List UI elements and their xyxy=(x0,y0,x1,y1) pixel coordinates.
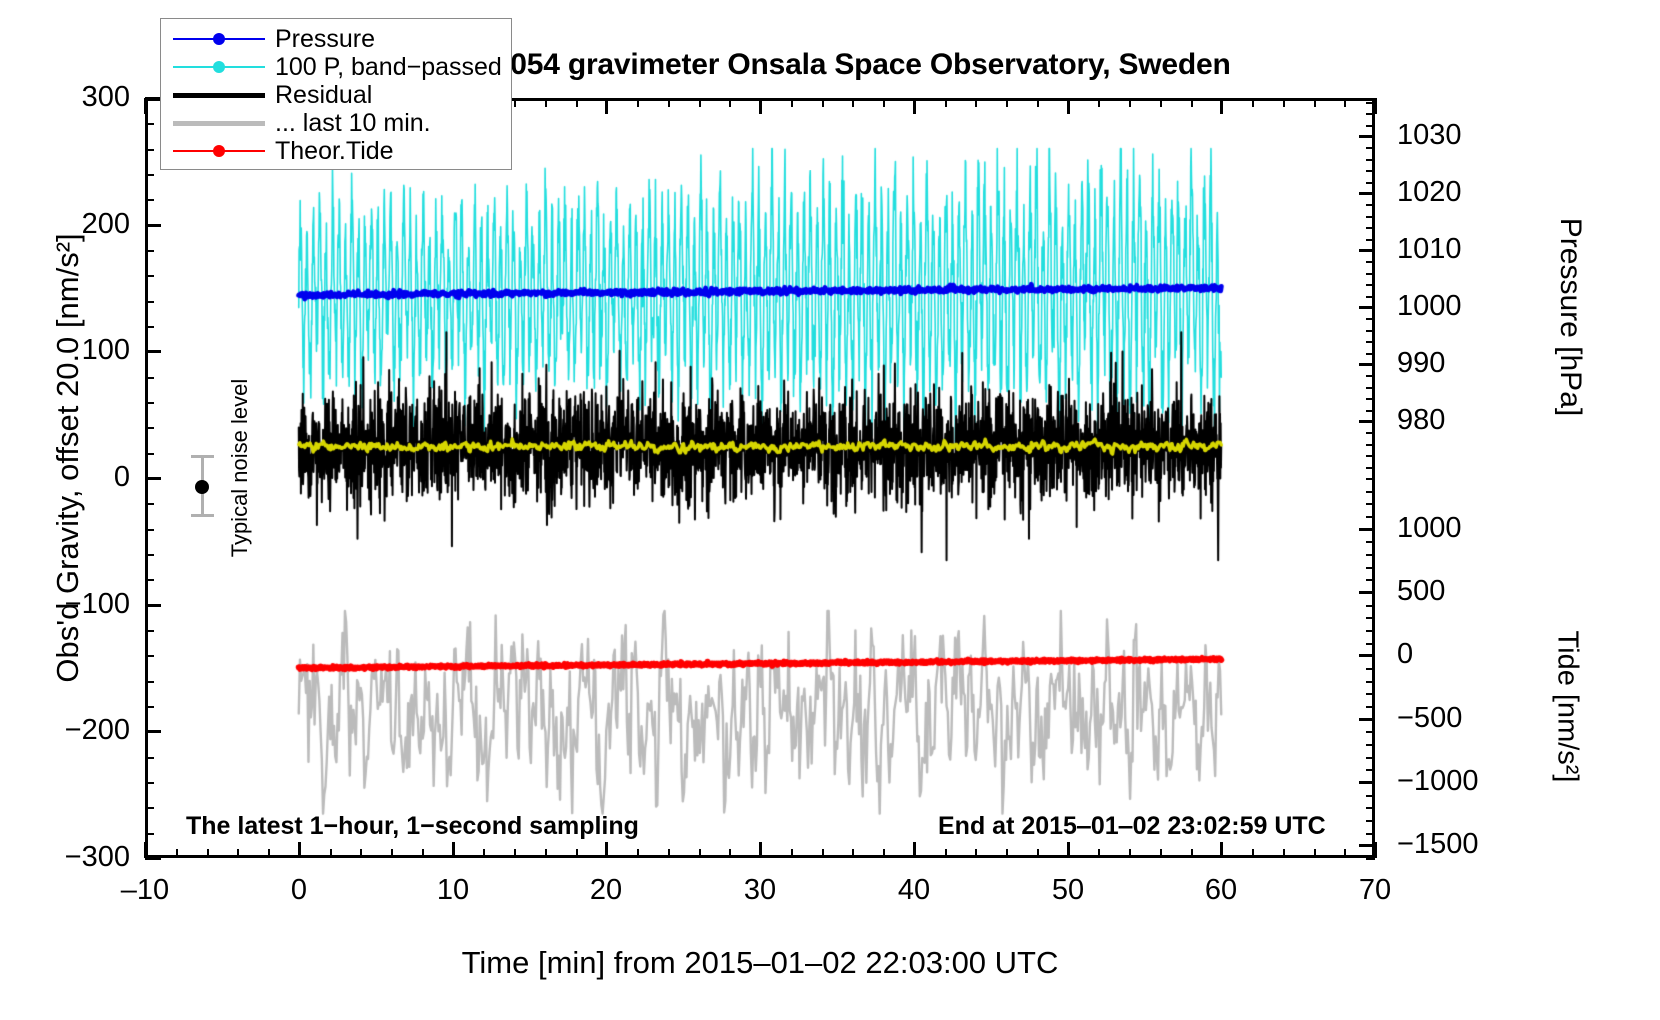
y-tick-minor-left xyxy=(145,326,154,328)
x-tick-minor xyxy=(822,849,824,858)
footnote-end-time: End at 2015‒01‒02 23:02:59 UTC xyxy=(938,812,1326,841)
y-tick-minor-right-pressure xyxy=(1366,170,1375,172)
x-tick-minor xyxy=(699,849,701,858)
y-tick-minor-left xyxy=(145,453,154,455)
y-tick-minor-right-tide xyxy=(1366,820,1375,822)
y-tick-minor-right-pressure xyxy=(1366,330,1375,332)
y-tick-minor-right-tide xyxy=(1366,630,1375,632)
x-tick-minor xyxy=(1314,849,1316,858)
x-tick-label: 0 xyxy=(239,876,359,905)
x-tick-minor xyxy=(1037,849,1039,858)
y-tick-minor-right-tide xyxy=(1366,668,1375,670)
y-tick-minor-right-tide xyxy=(1366,491,1375,493)
y-tick-major-left xyxy=(145,97,161,100)
legend-swatch-icon xyxy=(173,141,265,161)
x-tick-label: 30 xyxy=(700,876,820,905)
y-tick-minor-right-tide xyxy=(1366,693,1375,695)
x-tick-major-top xyxy=(144,98,147,114)
y-tick-minor-left xyxy=(145,250,154,252)
x-tick-minor xyxy=(330,849,332,858)
legend-label: Residual xyxy=(275,83,372,108)
y-tick-major-left xyxy=(145,604,161,607)
y-tick-minor-left xyxy=(145,630,154,632)
y-tick-label-right-tide: −1000 xyxy=(1397,767,1542,796)
y-tick-minor-left xyxy=(145,503,154,505)
y-tick-label-right-pressure: 1010 xyxy=(1397,235,1527,264)
x-tick-major xyxy=(1067,842,1070,858)
legend-swatch-icon xyxy=(173,29,265,49)
y-tick-major-left xyxy=(145,477,161,480)
x-tick-minor-top xyxy=(729,98,731,107)
y-tick-minor-right-tide xyxy=(1366,744,1375,746)
y-tick-minor-right-tide xyxy=(1366,643,1375,645)
y-tick-major-right-tide xyxy=(1359,528,1375,531)
x-axis-label: Time [min] from 2015‒01‒02 22:03:00 UTC xyxy=(145,945,1375,981)
x-tick-major xyxy=(759,842,762,858)
y-tick-minor-right-pressure xyxy=(1366,159,1375,161)
x-tick-minor xyxy=(545,849,547,858)
x-tick-major xyxy=(452,842,455,858)
x-tick-minor xyxy=(945,849,947,858)
y-tick-major-right-pressure xyxy=(1359,306,1375,309)
x-tick-minor xyxy=(1160,849,1162,858)
chart-page: SCG_054 gravimeter Onsala Space Observat… xyxy=(0,0,1660,1020)
y-tick-minor-right-pressure xyxy=(1366,296,1375,298)
y-tick-minor-right-pressure xyxy=(1366,341,1375,343)
y-tick-minor-left xyxy=(145,149,154,151)
y-tick-minor-left xyxy=(145,782,154,784)
x-tick-minor-top xyxy=(1314,98,1316,107)
y-tick-minor-left xyxy=(145,833,154,835)
x-tick-minor xyxy=(1098,849,1100,858)
y-tick-major-left xyxy=(145,730,161,733)
y-tick-minor-left xyxy=(145,655,154,657)
x-tick-minor-top xyxy=(576,98,578,107)
y-tick-minor-right-pressure xyxy=(1366,455,1375,457)
y-tick-minor-right-tide xyxy=(1366,757,1375,759)
y-tick-minor-right-pressure xyxy=(1366,318,1375,320)
x-tick-minor xyxy=(668,849,670,858)
x-tick-minor-top xyxy=(1160,98,1162,107)
y-tick-minor-left xyxy=(145,681,154,683)
y-tick-minor-right-tide xyxy=(1366,567,1375,569)
x-tick-minor-top xyxy=(668,98,670,107)
x-tick-minor-top xyxy=(975,98,977,107)
y-tick-minor-right-tide xyxy=(1366,807,1375,809)
y-axis-label-left: Obs'd Gravity, offset 20.0 [nm/s²] xyxy=(50,68,86,848)
x-tick-minor xyxy=(1344,849,1346,858)
x-tick-minor xyxy=(422,849,424,858)
y-tick-minor-right-tide xyxy=(1366,541,1375,543)
x-tick-minor xyxy=(360,849,362,858)
x-tick-major-top xyxy=(759,98,762,114)
y-axis-label-right-tide: Tide [nm/s²] xyxy=(1551,532,1584,882)
x-tick-minor xyxy=(1191,849,1193,858)
x-tick-minor xyxy=(729,849,731,858)
x-tick-minor xyxy=(237,849,239,858)
legend-line xyxy=(173,121,265,126)
x-tick-major-top xyxy=(1374,98,1377,114)
y-tick-minor-right-tide xyxy=(1366,579,1375,581)
x-tick-minor xyxy=(1129,849,1131,858)
y-tick-major-right-pressure xyxy=(1359,249,1375,252)
legend-item[interactable]: Pressure xyxy=(161,25,511,53)
y-tick-minor-left xyxy=(145,529,154,531)
x-tick-label: 40 xyxy=(854,876,974,905)
x-tick-minor-top xyxy=(1098,98,1100,107)
y-tick-minor-left xyxy=(145,579,154,581)
legend-item[interactable]: Theor.Tide xyxy=(161,137,511,165)
x-tick-major xyxy=(144,842,147,858)
legend-item[interactable]: 100 P, band−passed xyxy=(161,53,511,81)
legend-swatch-icon xyxy=(173,85,265,105)
errorbar-cap-bottom xyxy=(191,514,214,517)
y-tick-minor-left xyxy=(145,174,154,176)
legend-line xyxy=(173,93,265,98)
y-tick-label-right-pressure: 1000 xyxy=(1397,292,1527,321)
x-tick-minor xyxy=(514,849,516,858)
y-tick-minor-right-pressure xyxy=(1366,444,1375,446)
y-tick-major-right-pressure xyxy=(1359,192,1375,195)
x-tick-minor-top xyxy=(883,98,885,107)
y-tick-minor-right-pressure xyxy=(1366,125,1375,127)
x-tick-major-top xyxy=(605,98,608,114)
plot-series-canvas xyxy=(145,98,1375,858)
x-tick-minor xyxy=(791,849,793,858)
y-tick-minor-right-tide xyxy=(1366,769,1375,771)
y-tick-minor-right-tide xyxy=(1366,833,1375,835)
x-tick-minor-top xyxy=(791,98,793,107)
x-tick-minor-top xyxy=(514,98,516,107)
x-tick-major-top xyxy=(1220,98,1223,114)
y-tick-label-right-tide: 500 xyxy=(1397,577,1542,606)
x-tick-minor-top xyxy=(1129,98,1131,107)
x-tick-minor xyxy=(975,849,977,858)
y-tick-minor-right-tide xyxy=(1366,503,1375,505)
y-tick-minor-right-pressure xyxy=(1366,204,1375,206)
y-tick-minor-right-pressure xyxy=(1366,147,1375,149)
x-tick-minor-top xyxy=(545,98,547,107)
y-tick-major-right-tide xyxy=(1359,844,1375,847)
plot-canvas-holder xyxy=(145,98,1375,858)
y-tick-minor-left xyxy=(145,123,154,125)
y-tick-major-right-tide xyxy=(1359,654,1375,657)
legend-label: ... last 10 min. xyxy=(275,111,431,136)
y-tick-minor-right-tide xyxy=(1366,516,1375,518)
legend-swatch-icon xyxy=(173,57,265,77)
x-tick-major-top xyxy=(913,98,916,114)
x-tick-major xyxy=(605,842,608,858)
y-tick-minor-left xyxy=(145,757,154,759)
y-tick-major-right-tide xyxy=(1359,591,1375,594)
y-tick-minor-right-tide xyxy=(1366,858,1375,860)
legend-marker-dot-icon xyxy=(213,61,225,73)
legend-swatch-icon xyxy=(173,113,265,133)
y-tick-minor-right-pressure xyxy=(1366,467,1375,469)
y-tick-major-right-tide xyxy=(1359,718,1375,721)
y-tick-major-left xyxy=(145,224,161,227)
legend-marker-dot-icon xyxy=(213,33,225,45)
y-tick-minor-right-pressure xyxy=(1366,432,1375,434)
y-tick-label-right-tide: −500 xyxy=(1397,704,1542,733)
x-tick-major xyxy=(298,842,301,858)
x-tick-minor xyxy=(268,849,270,858)
x-tick-minor xyxy=(1006,849,1008,858)
x-tick-label: 50 xyxy=(1008,876,1128,905)
y-tick-major-left xyxy=(145,350,161,353)
y-tick-label-right-tide: −1500 xyxy=(1397,830,1542,859)
legend-item[interactable]: ... last 10 min. xyxy=(161,109,511,137)
y-tick-major-right-tide xyxy=(1359,781,1375,784)
noise-level-label: Typical noise level xyxy=(227,358,253,578)
y-tick-minor-right-pressure xyxy=(1366,227,1375,229)
x-tick-minor-top xyxy=(822,98,824,107)
y-tick-minor-right-pressure xyxy=(1366,273,1375,275)
y-tick-label-right-pressure: 1030 xyxy=(1397,121,1527,150)
x-tick-minor xyxy=(1283,849,1285,858)
y-tick-minor-right-pressure xyxy=(1366,113,1375,115)
y-tick-minor-right-pressure xyxy=(1366,353,1375,355)
errorbar-cap-top xyxy=(191,455,214,458)
y-tick-minor-right-pressure xyxy=(1366,239,1375,241)
legend-marker-dot-icon xyxy=(213,145,225,157)
legend-item[interactable]: Residual xyxy=(161,81,511,109)
y-tick-minor-right-pressure xyxy=(1366,182,1375,184)
y-tick-major-left xyxy=(145,857,161,860)
y-tick-minor-left xyxy=(145,199,154,201)
y-tick-major-right-pressure xyxy=(1359,135,1375,138)
legend-label: Theor.Tide xyxy=(275,139,394,164)
legend: Pressure100 P, band−passedResidual... la… xyxy=(160,18,512,170)
y-tick-minor-right-pressure xyxy=(1366,398,1375,400)
x-tick-minor-top xyxy=(1252,98,1254,107)
y-tick-minor-right-pressure xyxy=(1366,216,1375,218)
y-tick-label-right-pressure: 990 xyxy=(1397,349,1527,378)
errorbar-center-dot xyxy=(195,480,209,494)
y-tick-minor-left xyxy=(145,706,154,708)
y-tick-minor-right-pressure xyxy=(1366,410,1375,412)
x-tick-label: 20 xyxy=(546,876,666,905)
y-tick-minor-right-tide xyxy=(1366,605,1375,607)
y-tick-minor-right-pressure xyxy=(1366,261,1375,263)
y-tick-minor-left xyxy=(145,427,154,429)
x-tick-minor-top xyxy=(637,98,639,107)
y-tick-minor-left xyxy=(145,402,154,404)
x-tick-minor-top xyxy=(1283,98,1285,107)
x-tick-label: 60 xyxy=(1161,876,1281,905)
y-tick-minor-left xyxy=(145,807,154,809)
y-tick-minor-right-tide xyxy=(1366,795,1375,797)
y-tick-minor-right-pressure xyxy=(1366,375,1375,377)
y-tick-minor-right-tide xyxy=(1366,731,1375,733)
y-tick-major-right-pressure xyxy=(1359,420,1375,423)
x-tick-minor-top xyxy=(699,98,701,107)
legend-label: 100 P, band−passed xyxy=(275,55,502,80)
x-tick-minor xyxy=(883,849,885,858)
x-tick-minor-top xyxy=(1344,98,1346,107)
x-tick-minor xyxy=(483,849,485,858)
x-tick-label: 10 xyxy=(393,876,513,905)
x-tick-minor-top xyxy=(1037,98,1039,107)
y-tick-label-right-tide: 0 xyxy=(1397,640,1542,669)
y-tick-minor-left xyxy=(145,275,154,277)
x-tick-label: ‒10 xyxy=(85,876,205,905)
y-tick-label-right-tide: 1000 xyxy=(1397,514,1542,543)
x-tick-minor xyxy=(207,849,209,858)
x-tick-minor-top xyxy=(852,98,854,107)
y-tick-label-right-pressure: 980 xyxy=(1397,406,1527,435)
x-tick-major-top xyxy=(1067,98,1070,114)
y-tick-minor-right-pressure xyxy=(1366,387,1375,389)
y-tick-minor-left xyxy=(145,301,154,303)
x-tick-minor xyxy=(637,849,639,858)
y-tick-major-right-pressure xyxy=(1359,363,1375,366)
y-axis-label-right-pressure: Pressure [hPa] xyxy=(1553,117,1587,517)
x-tick-minor xyxy=(176,849,178,858)
y-tick-minor-right-tide xyxy=(1366,617,1375,619)
y-tick-minor-right-tide xyxy=(1366,706,1375,708)
x-tick-minor-top xyxy=(945,98,947,107)
footnote-sampling: The latest 1−hour, 1−second sampling xyxy=(186,812,639,841)
y-tick-minor-right-pressure xyxy=(1366,102,1375,104)
x-tick-label: 70 xyxy=(1315,876,1435,905)
y-tick-minor-right-tide xyxy=(1366,554,1375,556)
x-tick-minor-top xyxy=(1191,98,1193,107)
x-tick-minor xyxy=(1252,849,1254,858)
y-tick-minor-left xyxy=(145,554,154,556)
y-tick-minor-left xyxy=(145,377,154,379)
y-tick-label-right-pressure: 1020 xyxy=(1397,178,1527,207)
x-tick-major xyxy=(1220,842,1223,858)
x-tick-major xyxy=(913,842,916,858)
noise-level-errorbar xyxy=(186,455,220,517)
x-tick-minor xyxy=(391,849,393,858)
y-tick-minor-right-tide xyxy=(1366,478,1375,480)
legend-label: Pressure xyxy=(275,27,375,52)
x-tick-minor xyxy=(852,849,854,858)
x-tick-minor-top xyxy=(1006,98,1008,107)
y-tick-minor-right-pressure xyxy=(1366,284,1375,286)
x-tick-minor xyxy=(576,849,578,858)
y-tick-minor-right-tide xyxy=(1366,681,1375,683)
